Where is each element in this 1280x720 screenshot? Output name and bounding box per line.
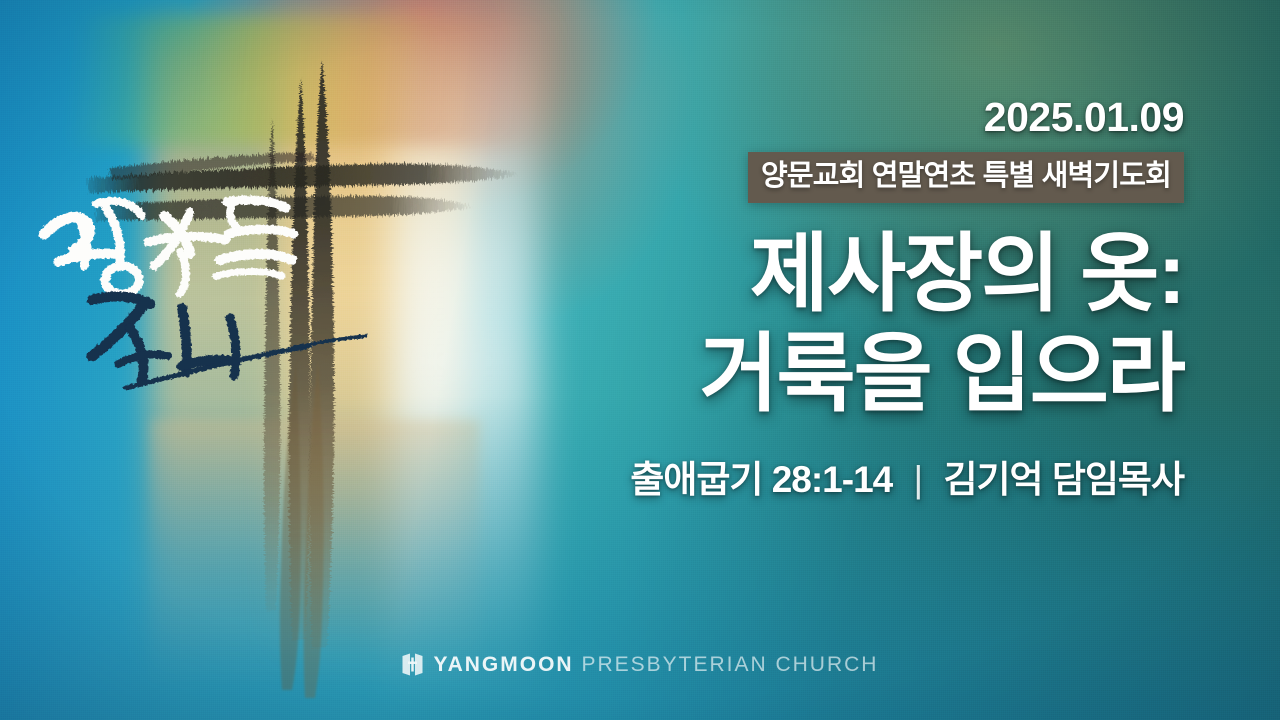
- church-brand: YANGMOON: [434, 653, 574, 676]
- scripture-reference: 출애굽기 28:1-14: [630, 459, 892, 500]
- calligraphy-artwork: [30, 150, 450, 410]
- sermon-title-slide: 2025.01.09 양문교회 연말연초 특별 새벽기도회 제사장의 옷: 거룩…: [0, 0, 1280, 720]
- speaker-name: 김기억 담임목사: [943, 459, 1184, 500]
- sermon-title-line-2: 거룩을 입으라: [544, 325, 1184, 425]
- meta-separator: |: [914, 459, 923, 501]
- sermon-title-line-1: 제사장의 옷:: [544, 225, 1184, 325]
- sermon-title: 제사장의 옷: 거룩을 입으라: [544, 225, 1184, 425]
- series-banner: 양문교회 연말연초 특별 새벽기도회: [748, 152, 1184, 203]
- sermon-meta: 출애굽기 28:1-14 | 김기억 담임목사: [544, 449, 1184, 503]
- service-date: 2025.01.09: [544, 96, 1184, 139]
- church-branding: YANGMOON PRESBYTERIAN CHURCH: [0, 653, 1280, 676]
- church-descriptor: PRESBYTERIAN CHURCH: [581, 653, 878, 676]
- series-banner-row: 양문교회 연말연초 특별 새벽기도회: [544, 152, 1184, 203]
- title-column: 2025.01.09 양문교회 연말연초 특별 새벽기도회 제사장의 옷: 거룩…: [544, 96, 1184, 503]
- church-name: YANGMOON PRESBYTERIAN CHURCH: [434, 654, 879, 675]
- open-book-cross-icon: [402, 653, 423, 676]
